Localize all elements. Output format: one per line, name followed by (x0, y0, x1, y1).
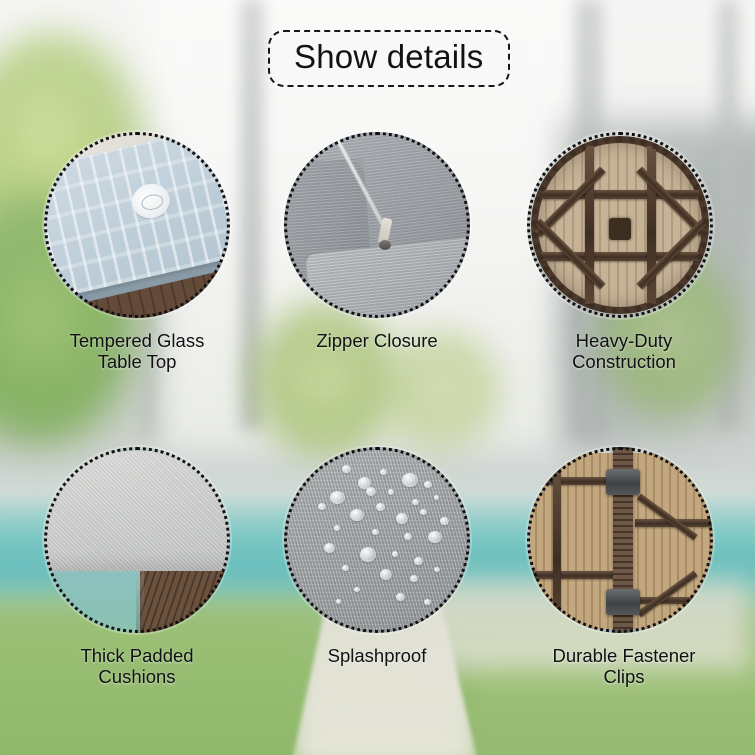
water-droplet (380, 469, 387, 475)
feature-image-circle (527, 132, 713, 318)
water-droplet (372, 529, 379, 535)
feature-caption: Zipper Closure (262, 330, 492, 351)
feature-zipper-closure: Zipper Closure (262, 132, 492, 351)
feature-caption: Heavy-Duty Construction (505, 330, 735, 372)
feature-caption: Thick Padded Cushions (22, 645, 252, 687)
water-droplet (350, 509, 364, 521)
tempered-glass-photo (44, 132, 230, 318)
water-droplet (434, 495, 439, 500)
feature-image-circle (527, 447, 713, 633)
water-droplet (336, 599, 341, 604)
feature-caption: Tempered Glass Table Top (22, 330, 252, 372)
water-droplet (440, 517, 449, 525)
water-droplet (324, 543, 335, 553)
product-detail-infographic: Show details Tempered Glass Table Top (0, 0, 755, 755)
water-droplet (412, 499, 419, 505)
water-droplet (396, 513, 408, 524)
splashproof-photo (284, 447, 470, 633)
feature-image-circle (44, 132, 230, 318)
water-droplet (428, 531, 442, 543)
feature-durable-fastener-clips: Durable Fastener Clips (505, 447, 735, 687)
feature-image-circle (284, 132, 470, 318)
feature-thick-padded-cushions: Thick Padded Cushions (22, 447, 252, 687)
feature-image-circle (284, 447, 470, 633)
water-droplet (354, 587, 360, 592)
water-droplet (330, 491, 345, 504)
water-droplet (434, 567, 440, 572)
water-droplet (420, 509, 427, 515)
water-droplet (366, 487, 376, 496)
water-droplet (414, 557, 423, 565)
water-droplet (388, 489, 394, 495)
fastener-clip (606, 469, 640, 495)
zipper-pull-tab (379, 240, 391, 250)
zipper-closure-photo (284, 132, 470, 318)
feature-caption: Splashproof (262, 645, 492, 666)
water-droplet (424, 599, 431, 605)
padded-cushion (44, 451, 230, 571)
water-droplet (376, 503, 385, 511)
feature-tempered-glass-table-top: Tempered Glass Table Top (22, 132, 252, 372)
water-droplet (342, 465, 351, 473)
water-droplet (396, 593, 405, 601)
frame-rail (527, 571, 623, 579)
water-droplet (392, 551, 398, 557)
water-droplet (410, 575, 418, 582)
splashproof-fabric (284, 447, 470, 633)
page-title: Show details (294, 38, 484, 76)
frame-rail-vertical (553, 455, 561, 631)
water-droplet (404, 533, 412, 540)
feature-caption: Durable Fastener Clips (505, 645, 735, 687)
water-droplet (318, 503, 326, 510)
water-droplet (360, 547, 376, 562)
rattan-woven-rim (531, 136, 709, 314)
heavy-duty-construction-photo (527, 132, 713, 318)
water-droplet (402, 473, 418, 487)
feature-splashproof: Splashproof (262, 447, 492, 666)
feature-image-circle (44, 447, 230, 633)
fastener-clips-photo (527, 447, 713, 633)
thick-padded-cushion-photo (44, 447, 230, 633)
water-droplet (380, 569, 392, 580)
feature-heavy-duty-construction: Heavy-Duty Construction (505, 132, 735, 372)
water-droplet (424, 481, 432, 488)
fastener-clip (606, 589, 640, 615)
show-details-title-box: Show details (268, 30, 510, 87)
water-droplet (334, 525, 340, 531)
water-droplet (342, 565, 349, 571)
